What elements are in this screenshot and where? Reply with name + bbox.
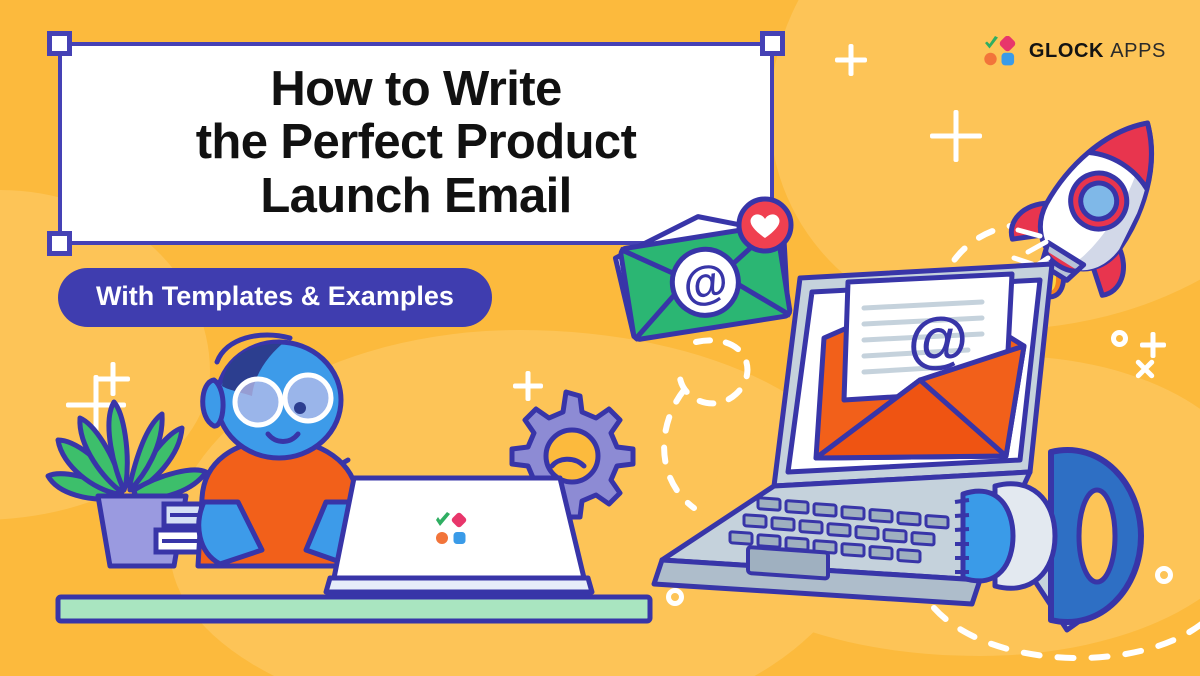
selection-handle-bottom-left[interactable] <box>47 231 72 256</box>
plus-decor-7 <box>1140 332 1166 358</box>
glockapps-four-shapes-icon <box>984 36 1018 66</box>
x-decor-1 <box>1133 357 1157 381</box>
banner-root: GLOCK APPS How to Write the Perfect Prod… <box>0 0 1200 676</box>
title-line-2: the Perfect Product <box>78 117 754 171</box>
svg-text:@: @ <box>908 306 968 375</box>
subtitle-badge: With Templates & Examples <box>58 268 492 327</box>
megaphone-icon <box>955 424 1195 654</box>
heart-badge <box>739 199 791 251</box>
desk-scene <box>40 352 650 642</box>
plus-decor-1 <box>835 44 867 76</box>
brand-logo[interactable]: GLOCK APPS <box>984 36 1166 66</box>
selection-handle-top-right[interactable] <box>760 31 785 56</box>
brand-name-light: APPS <box>1110 40 1166 62</box>
ring-decor-1 <box>1111 330 1128 347</box>
desk-surface <box>58 597 650 621</box>
page-title: How to Write the Perfect Product Launch … <box>62 63 770 225</box>
plus-decor-2 <box>930 110 982 162</box>
small-laptop <box>326 478 592 592</box>
person-at-laptop <box>198 335 362 566</box>
brand-name-bold: GLOCK <box>1029 40 1104 62</box>
selection-handle-top-left[interactable] <box>47 31 72 56</box>
title-line-1: How to Write <box>78 63 754 117</box>
brand-logo-text: GLOCK APPS <box>1029 40 1166 63</box>
